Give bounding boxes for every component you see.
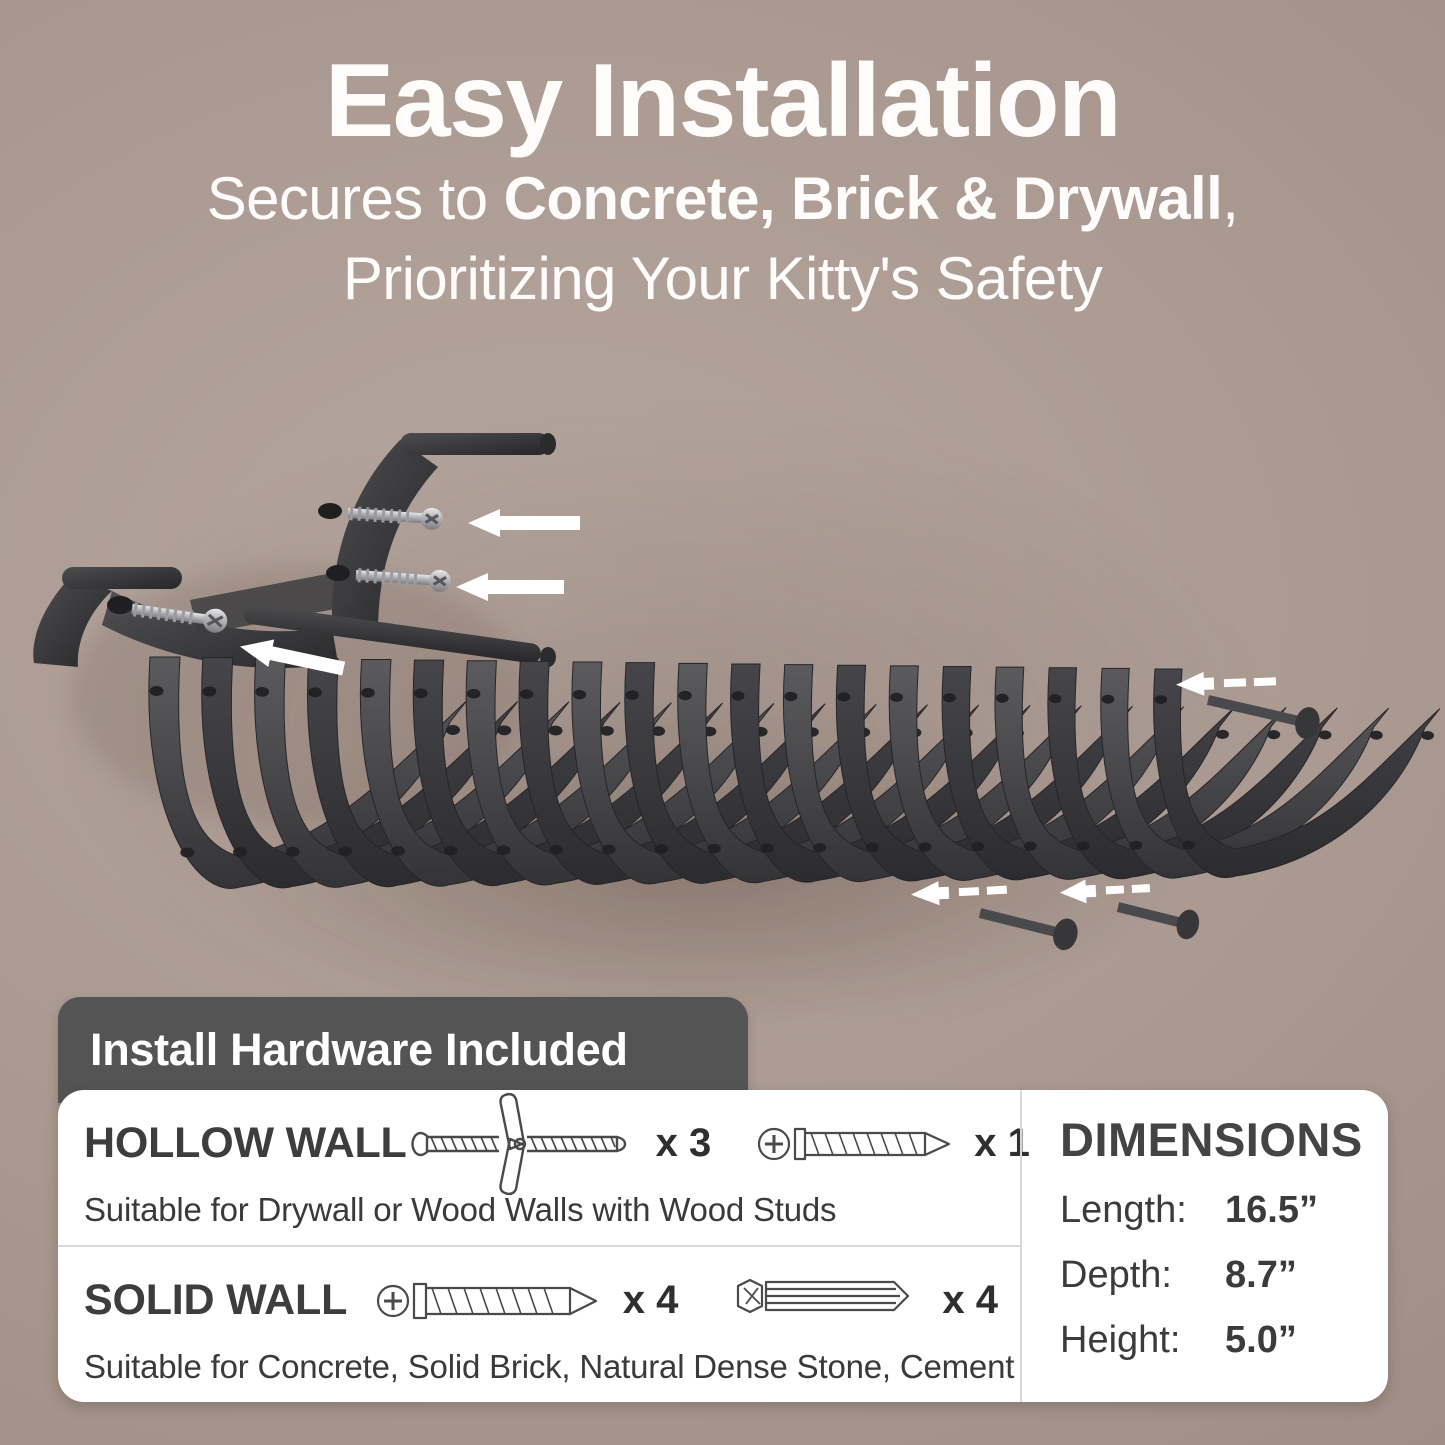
dimension-row-height: Height: 5.0” bbox=[1060, 1319, 1388, 1362]
hardware-row-description: Suitable for Drywall or Wood Walls with … bbox=[84, 1181, 1020, 1229]
flat-head-screw-icon bbox=[374, 1266, 609, 1336]
hardware-row-hollow-wall: HOLLOW WALL bbox=[58, 1090, 1020, 1245]
flat-head-screw-icon bbox=[755, 1109, 960, 1179]
hardware-tab-label: Install Hardware Included bbox=[58, 1024, 628, 1076]
subtitle-suffix: , bbox=[1222, 165, 1238, 232]
dimension-label: Height: bbox=[1060, 1319, 1225, 1362]
dimensions-title: DIMENSIONS bbox=[1060, 1116, 1388, 1163]
hardware-item-flat-head-screw: x 1 bbox=[755, 1109, 1030, 1179]
subtitle-line-2: Prioritizing Your Kitty's Safety bbox=[0, 236, 1445, 316]
hardware-item-wall-anchor: x 4 bbox=[718, 1266, 998, 1336]
dimensions-panel: DIMENSIONS Length: 16.5” Depth: 8.7” Hei… bbox=[1020, 1090, 1388, 1402]
wall-anchor-plug-icon bbox=[718, 1266, 928, 1336]
hardware-row-title: SOLID WALL bbox=[84, 1276, 347, 1325]
product-render: {} bbox=[0, 395, 1445, 1035]
dimension-row-depth: Depth: 8.7” bbox=[1060, 1254, 1388, 1297]
hardware-item-flat-head-screw: x 4 bbox=[374, 1266, 679, 1336]
hardware-tab: Install Hardware Included bbox=[58, 997, 748, 1103]
hardware-row-title: HOLLOW WALL bbox=[84, 1119, 407, 1168]
dimension-row-length: Length: 16.5” bbox=[1060, 1189, 1388, 1232]
hardware-list: HOLLOW WALL bbox=[58, 1090, 1020, 1402]
subtitle-prefix: Secures to bbox=[207, 165, 504, 232]
subtitle-line-1: Secures to Concrete, Brick & Drywall, bbox=[0, 156, 1445, 236]
dimensions-list: Length: 16.5” Depth: 8.7” Height: 5.0” bbox=[1060, 1189, 1388, 1362]
dimension-value: 8.7” bbox=[1225, 1254, 1297, 1297]
dimension-value: 16.5” bbox=[1225, 1189, 1318, 1232]
hardware-dimensions-card: HOLLOW WALL bbox=[58, 1090, 1388, 1402]
hardware-item-qty: x 3 bbox=[656, 1121, 712, 1166]
hardware-item-qty: x 4 bbox=[623, 1278, 679, 1323]
dimension-label: Depth: bbox=[1060, 1254, 1225, 1297]
dimension-label: Length: bbox=[1060, 1189, 1225, 1232]
hardware-row-solid-wall: SOLID WALL bbox=[58, 1245, 1020, 1402]
dimension-value: 5.0” bbox=[1225, 1319, 1297, 1362]
infographic-stage: Easy Installation Secures to Concrete, B… bbox=[0, 0, 1445, 1445]
subtitle-emphasis: Concrete, Brick & Drywall bbox=[504, 165, 1223, 232]
headline-block: Easy Installation Secures to Concrete, B… bbox=[0, 46, 1445, 316]
hardware-row-description: Suitable for Concrete, Solid Brick, Natu… bbox=[84, 1338, 1020, 1386]
page-title: Easy Installation bbox=[0, 46, 1445, 156]
hardware-item-qty: x 4 bbox=[942, 1278, 998, 1323]
